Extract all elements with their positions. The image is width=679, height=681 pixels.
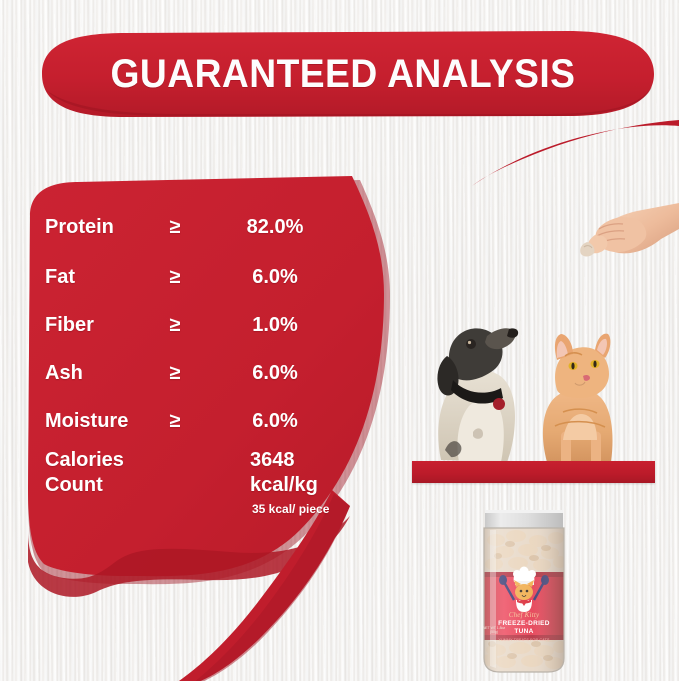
nutrient-name: Fat: [45, 266, 75, 289]
pets-photo-group: [405, 300, 679, 475]
cat-illustration: [543, 334, 613, 462]
nutrient-operator: ≥: [160, 266, 190, 289]
decorative-swoosh: [330, 118, 679, 188]
red-shelf-bar: [412, 461, 655, 483]
calories-value-line2: kcal/kg: [250, 473, 318, 498]
table-row: Moisture ≥ 6.0%: [0, 406, 330, 436]
nutrient-operator: ≥: [160, 362, 190, 385]
nutrient-operator: ≥: [160, 410, 190, 433]
table-row: Protein ≥ 82.0%: [0, 212, 330, 242]
calories-value-line1: 3648: [250, 448, 318, 473]
calories-per-piece-note: 35 kcal/ piece: [252, 502, 329, 516]
infographic-canvas: GUARANTEED ANALYSIS: [0, 0, 679, 681]
page-title: GUARANTEED ANALYSIS: [50, 28, 636, 120]
nutrient-name: Ash: [45, 362, 83, 385]
header-banner: GUARANTEED ANALYSIS: [28, 28, 658, 120]
nutrient-name: Fiber: [45, 314, 94, 337]
nutrient-value: 6.0%: [220, 410, 330, 433]
nutrient-value: 6.0%: [220, 266, 330, 289]
calories-label-line2: Count: [45, 473, 124, 498]
calories-count-block: Calories Count 3648 kcal/kg 35 kcal/ pie…: [0, 448, 380, 538]
table-row: Fiber ≥ 1.0%: [0, 310, 330, 340]
calories-label: Calories Count: [45, 448, 124, 498]
nutrient-operator: ≥: [160, 216, 190, 239]
nutrient-name: Moisture: [45, 410, 128, 433]
product-jar: Chef Kitty FREEZE-DRIED TUNA YUMMY TREAT…: [476, 508, 572, 676]
table-row: Fat ≥ 6.0%: [0, 262, 330, 292]
nutrient-value: 6.0%: [220, 362, 330, 385]
calories-label-line1: Calories: [45, 448, 124, 473]
nutrient-operator: ≥: [160, 314, 190, 337]
nutrient-value: 1.0%: [220, 314, 330, 337]
table-row: Ash ≥ 6.0%: [0, 358, 330, 388]
calories-value: 3648 kcal/kg: [250, 448, 318, 498]
dog-illustration: [437, 328, 518, 462]
nutrient-name: Protein: [45, 216, 114, 239]
nutrient-value: 82.0%: [220, 216, 330, 239]
hand-holding-treat-icon: [575, 195, 679, 265]
